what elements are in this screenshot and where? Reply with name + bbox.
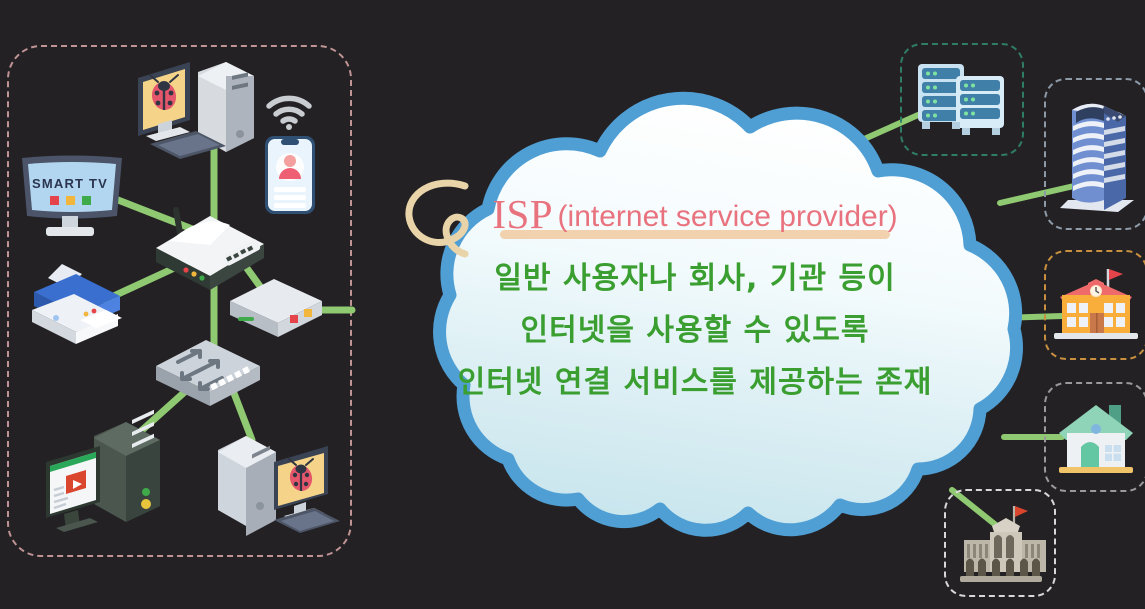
circle-annotation-icon — [403, 178, 495, 254]
office-building[interactable] — [1044, 78, 1145, 230]
tower-pc-virus[interactable] — [212, 428, 340, 538]
cloud-text-block: ISP (internet service provider) 일반 사용자나 … — [395, 190, 995, 398]
cloud-body-line-1: 일반 사용자나 회사, 기관 등이 — [395, 264, 995, 294]
smartphone-user[interactable] — [264, 135, 316, 215]
school-building[interactable] — [1044, 250, 1145, 360]
network-switch[interactable] — [152, 338, 264, 414]
house-building[interactable] — [1044, 382, 1145, 492]
server-rack[interactable] — [900, 43, 1024, 156]
desktop-pc-virus[interactable] — [128, 60, 260, 170]
printer[interactable] — [28, 258, 128, 344]
diagram-canvas: ISP (internet service provider) 일반 사용자나 … — [0, 0, 1145, 609]
smart-tv-label: SMART TV — [32, 176, 108, 191]
media-server[interactable] — [42, 418, 182, 538]
smart-tv[interactable]: SMART TV — [18, 152, 126, 244]
isp-full-name: (internet service provider) — [558, 200, 898, 233]
wifi-signal-icon — [266, 96, 312, 130]
cloud-body-line-2: 인터넷을 사용할 수 있도록 — [395, 316, 995, 346]
cloud-body-line-3: 인터넷 연결 서비스를 제공하는 존재 — [395, 368, 995, 398]
modem-box[interactable] — [228, 277, 324, 337]
isp-title-line: ISP (internet service provider) — [395, 190, 995, 242]
isp-abbreviation: ISP — [492, 191, 553, 237]
government-building[interactable] — [944, 489, 1056, 597]
